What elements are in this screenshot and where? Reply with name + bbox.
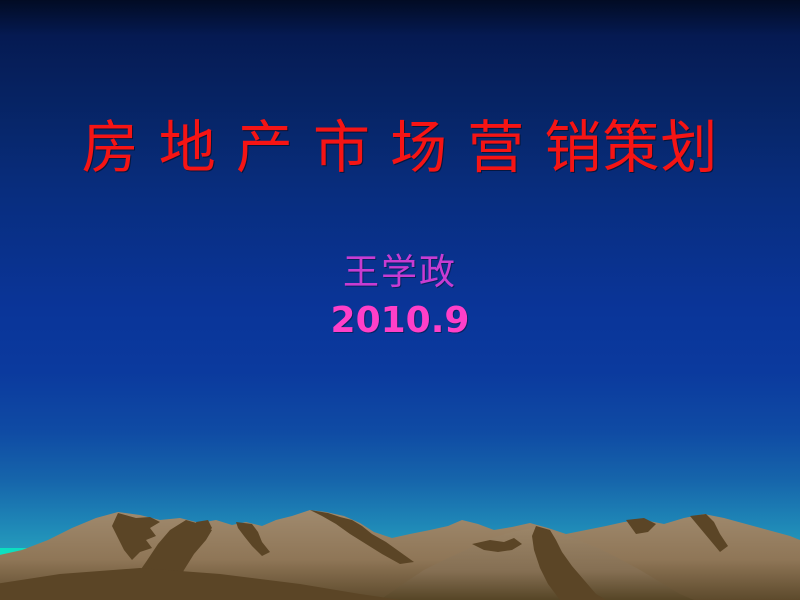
- presentation-slide: 房 地 产 市 场 营 销策划 王学政 2010.9: [0, 0, 800, 600]
- subtitle-block: 王学政 2010.9: [0, 250, 800, 342]
- title-block: 房 地 产 市 场 营 销策划: [0, 112, 800, 184]
- author-name: 王学政: [0, 250, 800, 296]
- mountain-range-silhouette: [0, 490, 800, 600]
- page-title: 房 地 产 市 场 营 销策划: [82, 112, 719, 184]
- presentation-date: 2010.9: [0, 300, 800, 342]
